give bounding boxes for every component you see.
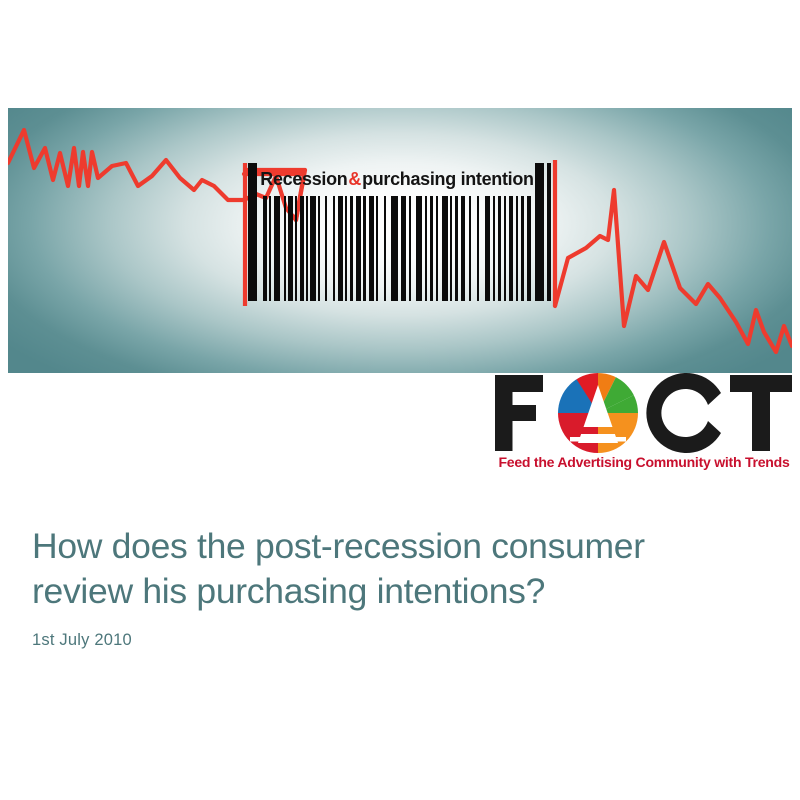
barcode-label-ampersand: & bbox=[347, 168, 362, 190]
barcode-stripes bbox=[263, 196, 531, 301]
page-title: How does the post-recession consumer rev… bbox=[32, 524, 772, 614]
barcode-guard-bar-right-outer bbox=[547, 163, 551, 301]
barcode-graphic: Recession & purchasing intention bbox=[244, 163, 554, 301]
logo-letter-a-emblem bbox=[552, 371, 644, 455]
presentation-date: 1st July 2010 bbox=[32, 631, 132, 650]
fact-wordmark bbox=[492, 371, 794, 455]
logo-letter-t bbox=[730, 375, 792, 451]
logo-letter-f bbox=[495, 375, 543, 451]
barcode-label: Recession & purchasing intention bbox=[267, 164, 527, 194]
fact-logo: Feed the Advertising Community with Tren… bbox=[492, 371, 794, 479]
barcode-guard-bar-left bbox=[248, 163, 257, 301]
trend-line-right bbox=[555, 190, 792, 352]
logo-letter-c bbox=[646, 373, 721, 453]
barcode-label-prefix: Recession bbox=[260, 168, 347, 190]
barcode-label-suffix: purchasing intention bbox=[362, 168, 534, 190]
fact-tagline: Feed the Advertising Community with Tren… bbox=[496, 455, 793, 471]
barcode-guard-bar-right bbox=[535, 163, 544, 301]
title-block: How does the post-recession consumer rev… bbox=[32, 524, 772, 614]
